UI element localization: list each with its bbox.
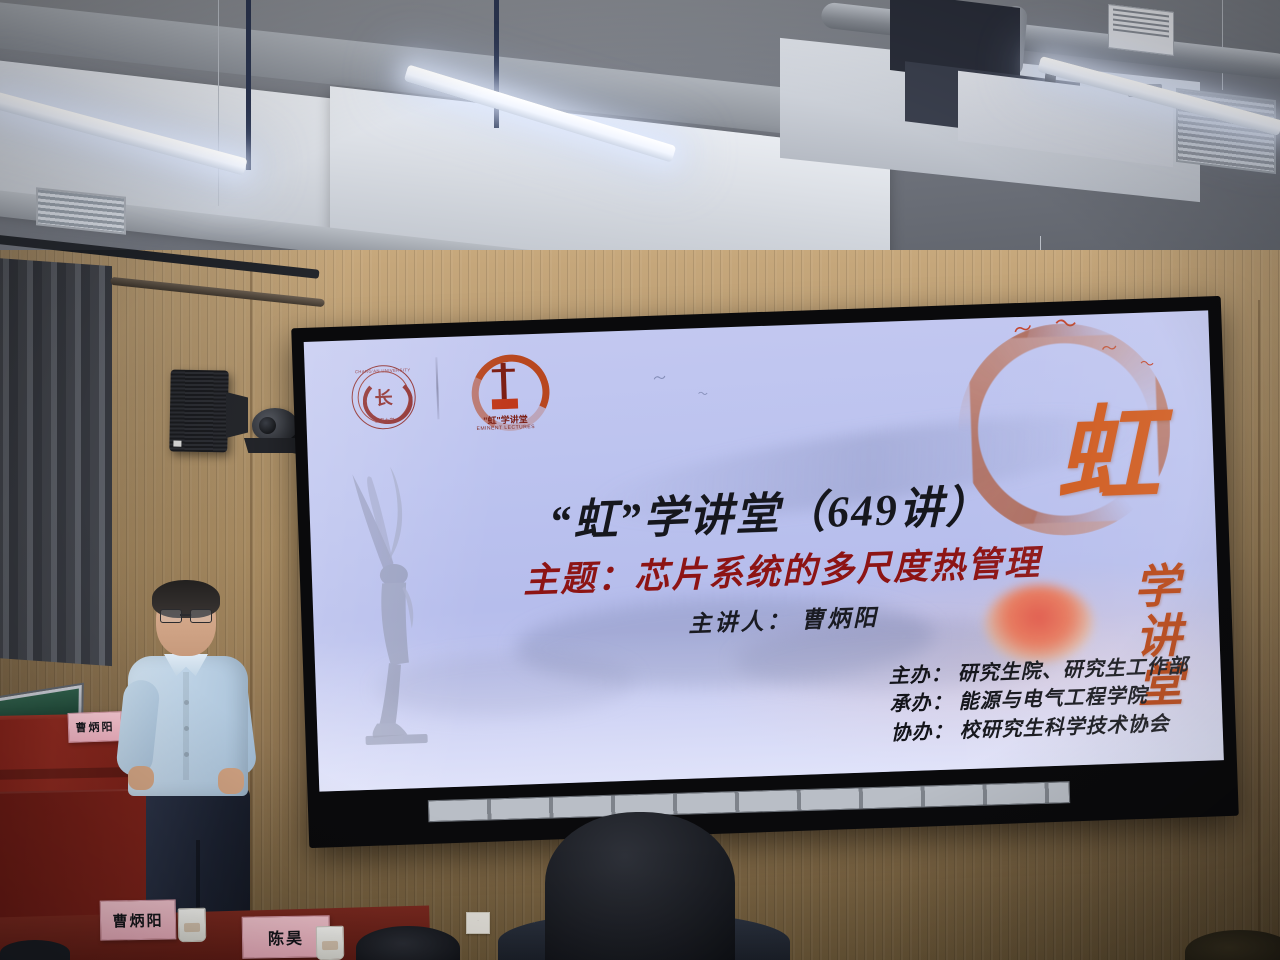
ceiling-wire xyxy=(218,0,219,206)
audience-head xyxy=(545,812,735,960)
audience-head xyxy=(0,940,70,960)
paper-cup xyxy=(316,926,345,960)
eyeglasses-icon xyxy=(160,609,212,621)
shirt-button xyxy=(184,726,189,731)
led-video-wall[interactable]: 〜 〜 〜 〜 〜 〜 虹 学 讲 堂 CHANG'AN UNIVERSITY … xyxy=(291,296,1239,848)
name-card-podium: 曹炳阳 xyxy=(67,711,122,743)
presentation-slide: 〜 〜 〜 〜 〜 〜 虹 学 讲 堂 CHANG'AN UNIVERSITY … xyxy=(304,310,1224,791)
paper-cup xyxy=(178,908,207,942)
ac-vent-grille xyxy=(36,187,126,234)
screen-glare-overlay xyxy=(304,310,1224,791)
ceiling-hanger-rod xyxy=(246,0,251,170)
shirt-button xyxy=(184,752,189,757)
ceiling-wire xyxy=(1222,0,1223,90)
control-panel-box xyxy=(1108,4,1174,56)
shirt-button xyxy=(184,700,189,705)
speaker-right-hand xyxy=(218,768,244,794)
speaker-left-hand xyxy=(128,766,154,790)
name-card-table-left: 曹炳阳 xyxy=(100,899,177,940)
lecture-hall-photo: · 〜 〜 xyxy=(0,0,1280,960)
